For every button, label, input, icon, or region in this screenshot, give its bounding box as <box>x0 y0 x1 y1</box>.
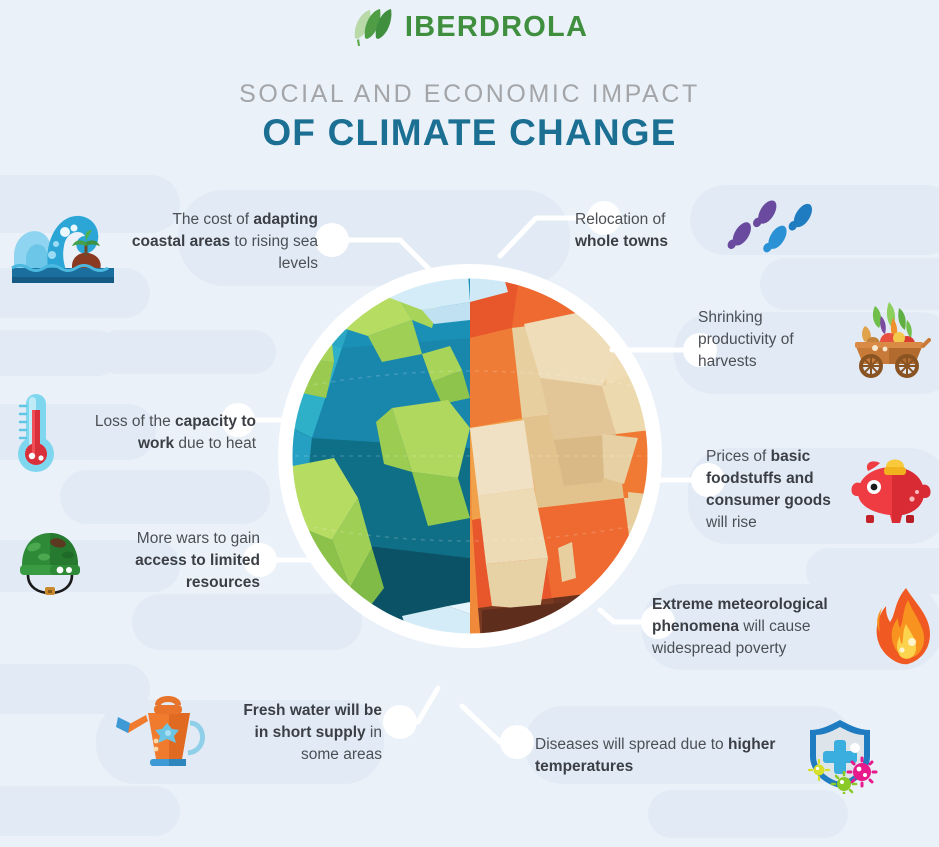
piggy-bank-icon <box>848 453 934 527</box>
impact-item-extreme-weather[interactable]: Extreme meteorological phenomena will ca… <box>652 586 934 668</box>
impact-text-capacity: Loss of the capacity to work due to heat <box>76 411 256 455</box>
impact-item-prices[interactable]: Prices of basic foodstuffs and consumer … <box>706 446 934 534</box>
impact-text-prices: Prices of basic foodstuffs and consumer … <box>706 446 842 534</box>
page-title: OF CLIMATE CHANGE <box>0 112 939 154</box>
impact-text-water: Fresh water will be in short supply in s… <box>226 700 382 766</box>
flame-icon <box>872 586 934 668</box>
impact-item-harvests[interactable]: Shrinking productivity of harvests <box>698 300 933 380</box>
impact-item-wars[interactable]: More wars to gain access to limited reso… <box>14 525 274 597</box>
impact-text-harvests: Shrinking productivity of harvests <box>698 307 827 373</box>
impact-item-diseases[interactable]: Diseases will spread due to higher tempe… <box>535 718 880 794</box>
virus-particle <box>848 758 876 786</box>
brand-logo: IBERDROLA <box>0 8 939 46</box>
page-subtitle: SOCIAL AND ECONOMIC IMPACT <box>0 80 939 109</box>
footprints-icon <box>717 188 825 274</box>
brand-name: IBERDROLA <box>405 11 588 44</box>
military-helmet-icon <box>14 525 86 597</box>
thermometer-icon <box>8 390 64 476</box>
earth-globe-graphic <box>272 258 668 654</box>
health-shield-virus-icon <box>798 718 880 794</box>
impact-item-capacity[interactable]: Loss of the capacity to work due to heat <box>8 390 258 476</box>
impact-text-extreme-weather: Extreme meteorological phenomena will ca… <box>652 594 864 660</box>
watering-can-icon <box>112 695 216 771</box>
impact-text-diseases: Diseases will spread due to higher tempe… <box>535 734 786 778</box>
vegetable-cart-icon <box>837 300 933 380</box>
impact-item-relocation[interactable]: Relocation of whole towns <box>575 188 825 274</box>
ocean-wave-island-icon <box>8 198 118 286</box>
iberdrola-leaf-logo-icon <box>351 8 397 46</box>
impact-item-coastal[interactable]: The cost of adapting coastal areas to ri… <box>8 198 328 286</box>
impact-text-relocation: Relocation of whole towns <box>575 209 703 253</box>
infographic-canvas: IBERDROLA SOCIAL AND ECONOMIC IMPACT OF … <box>0 0 939 847</box>
impact-text-coastal: The cost of adapting coastal areas to ri… <box>128 209 318 275</box>
impact-item-water[interactable]: Fresh water will be in short supply in s… <box>112 695 382 771</box>
impact-text-wars: More wars to gain access to limited reso… <box>100 528 260 594</box>
